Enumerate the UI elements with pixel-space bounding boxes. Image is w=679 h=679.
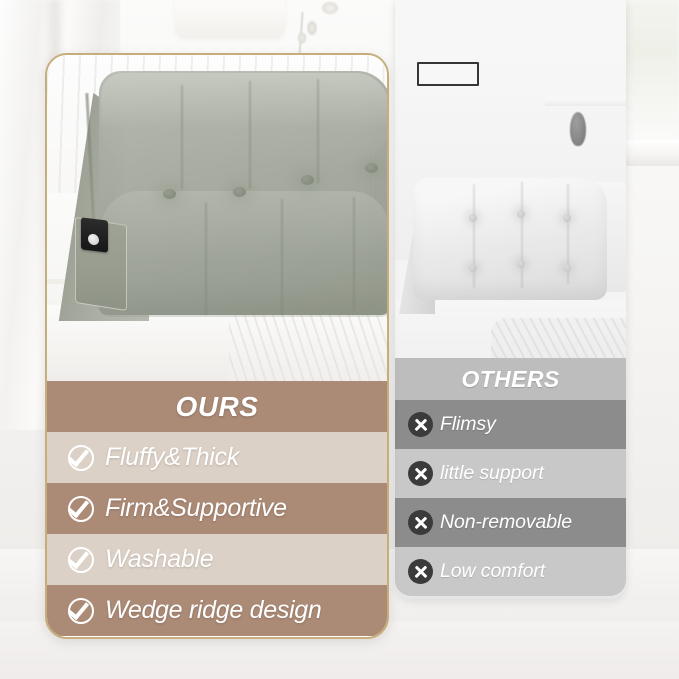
ours-pillow-seam (249, 81, 251, 189)
others-header-label: OTHERS (461, 366, 559, 393)
ours-feature-label: Firm&Supportive (105, 494, 287, 523)
others-pillow-tuft (469, 214, 477, 222)
phone-camera-lens-icon (88, 233, 99, 245)
others-feature-label: Non-removable (440, 511, 572, 534)
ours-pillow-top-roll (101, 73, 387, 165)
ours-pillow (53, 71, 387, 333)
others-wall-frame (417, 62, 479, 86)
check-circle-icon (68, 496, 94, 522)
comparison-infographic: OTHERS Flimsy little support Non-removab… (0, 0, 679, 679)
others-pillow-tuft (563, 264, 571, 272)
ours-feature-row: Washable (47, 534, 387, 585)
check-circle-icon (68, 598, 94, 624)
ours-pillow-seam (317, 79, 319, 183)
others-feature-row: Flimsy (395, 400, 626, 449)
ours-card: OURS Fluffy&Thick Firm&Supportive (45, 53, 389, 639)
ours-feature-row: Fluffy&Thick (47, 432, 387, 483)
ours-feature-row: Wedge ridge design (47, 585, 387, 636)
x-circle-icon (408, 559, 433, 584)
others-feature-row: Low comfort (395, 547, 626, 596)
ours-product-photo (47, 55, 387, 383)
ours-pillow-tuft (365, 163, 378, 173)
others-pillow-tuft (469, 264, 477, 272)
ours-feature-list: OURS Fluffy&Thick Firm&Supportive (47, 381, 387, 636)
others-feature-row: little support (395, 449, 626, 498)
ours-header: OURS (47, 381, 387, 432)
ours-header-label: OURS (176, 391, 259, 423)
check-circle-icon (68, 547, 94, 573)
others-feature-label: Low comfort (440, 560, 545, 583)
x-circle-icon (408, 461, 433, 486)
background-lamp-shade (175, 0, 285, 38)
ours-feature-label: Washable (105, 545, 213, 574)
others-vase (570, 112, 586, 146)
others-header: OTHERS (395, 358, 626, 400)
ours-pillow-seam (205, 203, 207, 315)
ours-pillow-seam (281, 199, 283, 315)
ours-pillow-bottom-roll (101, 191, 387, 317)
ours-pillow-tuft (233, 187, 246, 197)
ours-pillow-tuft (163, 189, 176, 199)
others-pillow (399, 172, 611, 312)
x-circle-icon (408, 510, 433, 535)
ours-pillow-tuft (301, 175, 314, 185)
others-pillow-body (413, 178, 607, 300)
ours-feature-row: Firm&Supportive (47, 483, 387, 534)
others-shelf (545, 94, 626, 106)
others-feature-label: Flimsy (440, 413, 496, 436)
others-pillow-tuft (517, 210, 525, 218)
ours-feature-label: Fluffy&Thick (105, 443, 239, 472)
others-feature-list: OTHERS Flimsy little support Non-removab… (395, 358, 626, 596)
others-feature-row: Non-removable (395, 498, 626, 547)
ours-feature-label: Wedge ridge design (105, 596, 322, 625)
others-pillow-seam (473, 184, 475, 288)
others-pillow-seam (521, 182, 523, 288)
check-circle-icon (68, 445, 94, 471)
others-pillow-tuft (517, 260, 525, 268)
ours-pillow-seam (353, 197, 355, 311)
others-feature-label: little support (440, 462, 544, 485)
x-circle-icon (408, 412, 433, 437)
ours-pillow-seam (181, 85, 183, 189)
background-flowers (282, 0, 352, 54)
others-pillow-tuft (563, 214, 571, 222)
